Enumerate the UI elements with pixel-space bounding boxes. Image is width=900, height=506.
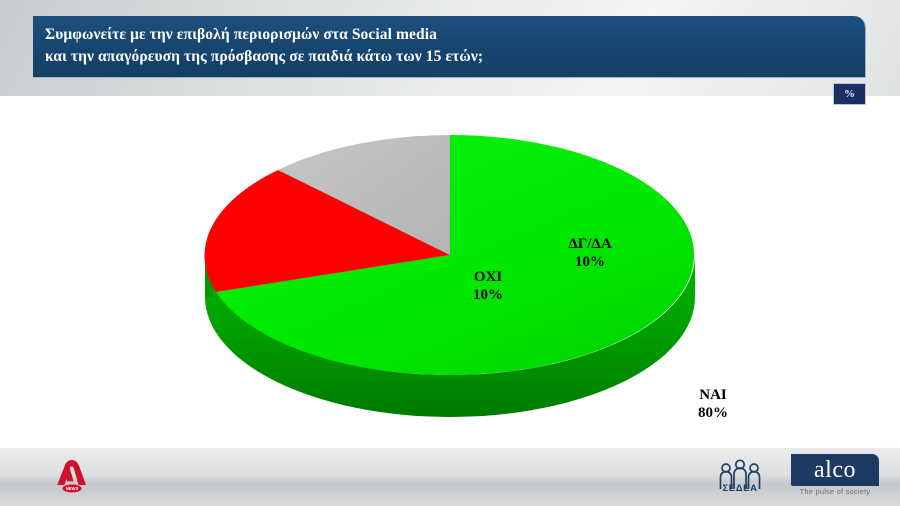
alco-logo-tagline: The pulse of society	[791, 487, 879, 496]
slice-label-dgda-value: 10%	[530, 253, 650, 271]
slice-label-nai-value: 80%	[653, 404, 773, 422]
alco-logo-word: alco	[814, 458, 856, 482]
slice-label-oxi: ΟΧΙ 10%	[443, 268, 533, 304]
unit-badge: %	[833, 83, 866, 105]
slice-label-dgda-name: ΔΓ/ΔΑ	[530, 235, 650, 253]
slide-root: Συμφωνείτε με την επιβολή περιορισμών στ…	[0, 0, 900, 506]
svg-text:NEWS: NEWS	[66, 486, 79, 491]
alco-logo: alco	[791, 454, 879, 486]
slice-label-nai: ΝΑΙ 80%	[653, 386, 773, 422]
title-line-1: Συμφωνείτε με την επιβολή περιορισμών στ…	[45, 24, 851, 46]
pie-chart: ΝΑΙ 80% ΟΧΙ 10% ΔΓ/ΔΑ 10%	[185, 100, 715, 440]
slice-label-oxi-name: ΟΧΙ	[443, 268, 533, 286]
title-bar: Συμφωνείτε με την επιβολή περιορισμών στ…	[33, 16, 866, 78]
slice-label-dgda: ΔΓ/ΔΑ 10%	[530, 235, 650, 271]
slice-label-oxi-value: 10%	[443, 286, 533, 304]
title-line-2: και την απαγόρευση της πρόσβασης σε παιδ…	[45, 46, 851, 68]
slice-label-nai-name: ΝΑΙ	[653, 386, 773, 404]
sedea-logo-label: ΣΕΔΕΑ	[706, 483, 774, 494]
alpha-tv-logo-icon: NEWS	[54, 459, 90, 493]
